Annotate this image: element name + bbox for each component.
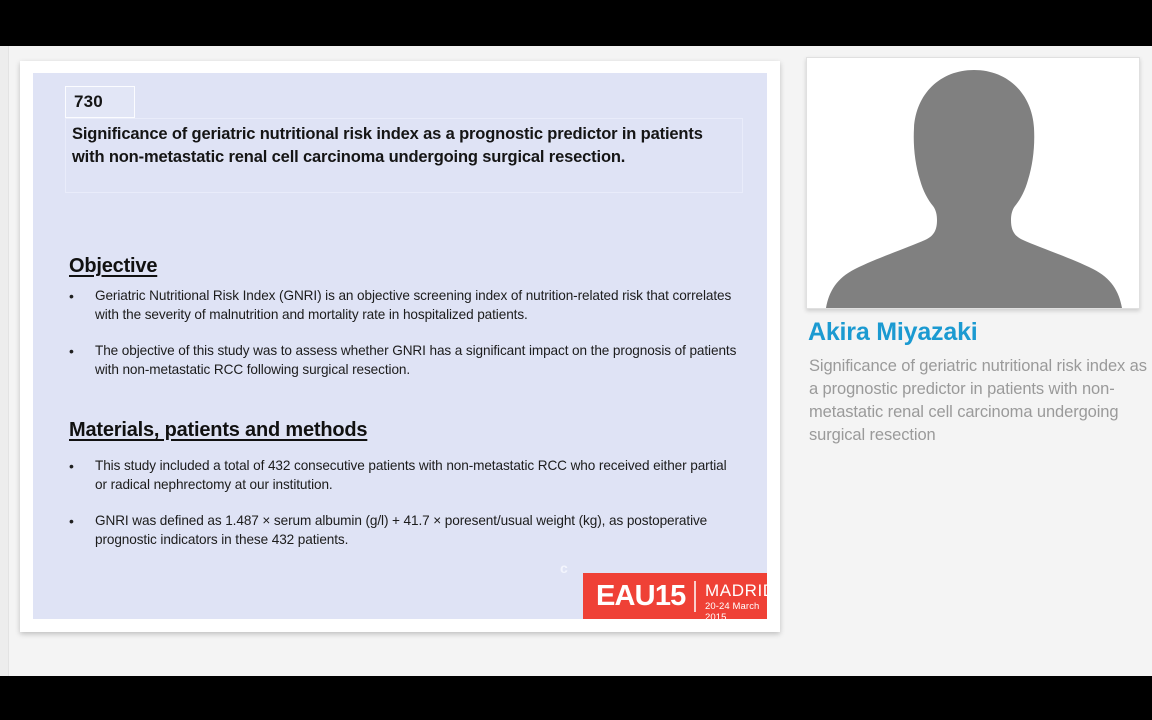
slide-number-box: 730 <box>65 86 135 118</box>
eau-logo-city: MADRID <box>705 581 767 600</box>
slide-surface: 730 Significance of geriatric nutritiona… <box>33 73 767 619</box>
slide-title: Significance of geriatric nutritional ri… <box>72 123 736 168</box>
slide-card[interactable]: 730 Significance of geriatric nutritiona… <box>20 61 780 632</box>
section-heading-materials: Materials, patients and methods <box>69 419 367 442</box>
bullet-item: • GNRI was defined as 1.487 × serum albu… <box>69 512 741 549</box>
bullet-marker-icon: • <box>69 513 74 530</box>
page-left-rail <box>0 46 9 676</box>
bullet-marker-icon: • <box>69 343 74 360</box>
speaker-name: Akira Miyazaki <box>808 318 978 347</box>
video-player-stage: 730 Significance of geriatric nutritiona… <box>0 0 1152 720</box>
eau15-congress-logo: EAU15 MADRID 20-24 March 2015 <box>583 573 767 619</box>
bullet-text: Geriatric Nutritional Risk Index (GNRI) … <box>95 287 741 324</box>
letterbox-top-bar <box>0 0 1152 46</box>
presentation-page: 730 Significance of geriatric nutritiona… <box>0 46 1152 676</box>
speaker-talk-title: Significance of geriatric nutritional ri… <box>809 355 1149 447</box>
bullet-text: The objective of this study was to asses… <box>95 342 741 379</box>
speaker-avatar-card <box>806 57 1140 309</box>
section-heading-objective: Objective <box>69 255 157 278</box>
slide-title-box: Significance of geriatric nutritional ri… <box>65 118 743 193</box>
slide-artifact-glyph: c <box>560 560 568 576</box>
eau-logo-divider <box>694 581 696 612</box>
bullet-marker-icon: • <box>69 458 74 475</box>
slide-number: 730 <box>74 92 103 112</box>
letterbox-bottom-bar <box>0 676 1152 720</box>
bullet-item: • This study included a total of 432 con… <box>69 457 741 494</box>
eau-logo-wordmark: EAU15 <box>596 580 686 613</box>
bullet-item: • The objective of this study was to ass… <box>69 342 741 379</box>
speaker-panel: Akira Miyazaki Significance of geriatric… <box>806 46 1152 676</box>
bullet-marker-icon: • <box>69 288 74 305</box>
bullet-item: • Geriatric Nutritional Risk Index (GNRI… <box>69 287 741 324</box>
bullet-text: GNRI was defined as 1.487 × serum albumi… <box>95 512 741 549</box>
eau-logo-dates: 20-24 March 2015 <box>705 601 767 619</box>
bullet-text: This study included a total of 432 conse… <box>95 457 741 494</box>
person-silhouette-icon <box>807 64 1140 308</box>
